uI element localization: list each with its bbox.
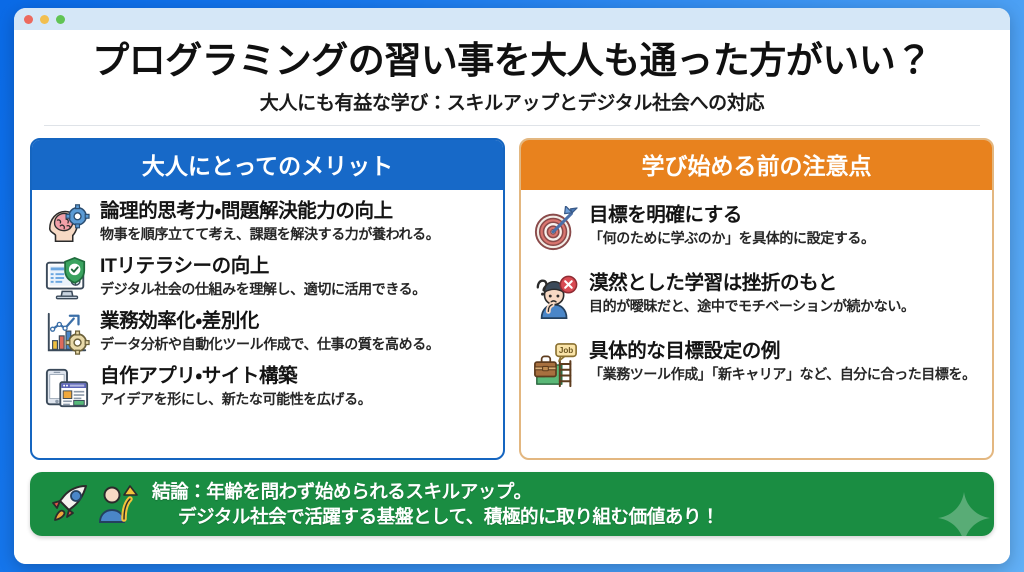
maximize-button[interactable] bbox=[56, 15, 65, 24]
briefcase-ladder-job-icon: Job bbox=[533, 342, 579, 388]
list-item-text: 自作アプリ・サイト構築 アイデアを形にし、新たな可能性を広げる。 bbox=[100, 365, 491, 408]
list-item-text: 業務効率化・差別化 データ分析や自動化ツール作成で、仕事の質を高める。 bbox=[100, 310, 491, 353]
list-item-title: 具体的な目標設定の例 bbox=[589, 340, 980, 363]
app-window: プログラミングの習い事を大人も通った方がいい？ 大人にも有益な学び：スキルアップ… bbox=[14, 8, 1010, 564]
page-subtitle: 大人にも有益な学び：スキルアップとデジタル社会への対応 bbox=[30, 88, 994, 115]
list-item-text: 論理的思考力・問題解決能力の向上 物事を順序立てて考え、課題を解決する力が養われ… bbox=[100, 200, 491, 243]
target-dart-icon bbox=[533, 206, 579, 252]
list-item-desc: 物事を順序立てて考え、課題を解決する力が養われる。 bbox=[100, 225, 491, 243]
conclusion-text: 結論：年齢を問わず始められるスキルアップ。 デジタル社会で活躍する基盤として、積… bbox=[152, 479, 994, 530]
panel-cautions-body: 目標を明確にする 「何のために学ぶのか」を具体的に設定する。 bbox=[521, 190, 992, 458]
list-item-title: 目標を明確にする bbox=[589, 204, 980, 227]
list-item-desc: 目的が曖昧だと、途中でモチベーションが続かない。 bbox=[589, 297, 980, 315]
svg-text:Job: Job bbox=[559, 346, 573, 355]
list-item-text: 漠然とした学習は挫折のもと 目的が曖昧だと、途中でモチベーションが続かない。 bbox=[589, 272, 980, 315]
slide-content: プログラミングの習い事を大人も通った方がいい？ 大人にも有益な学び：スキルアップ… bbox=[14, 30, 1010, 564]
panel-merits: 大人にとってのメリット bbox=[30, 138, 505, 460]
page-title: プログラミングの習い事を大人も通った方がいい？ bbox=[30, 40, 994, 81]
list-item-title: ITリテラシーの向上 bbox=[100, 255, 491, 278]
list-item-desc: 「業務ツール作成」「新キャリア」など、自分に合った目標を。 bbox=[589, 365, 980, 383]
header-divider bbox=[44, 125, 980, 126]
window-titlebar bbox=[14, 8, 1010, 30]
list-item-text: 目標を明確にする 「何のために学ぶのか」を具体的に設定する。 bbox=[589, 204, 980, 247]
confused-person-icon bbox=[533, 274, 579, 320]
close-button[interactable] bbox=[24, 15, 33, 24]
list-item: 漠然とした学習は挫折のもと 目的が曖昧だと、途中でモチベーションが続かない。 bbox=[533, 272, 980, 320]
panel-cautions: 学び始める前の注意点 bbox=[519, 138, 994, 460]
list-item-desc: アイデアを形にし、新たな可能性を広げる。 bbox=[100, 390, 491, 408]
conclusion-line-1: 結論：年齢を問わず始められるスキルアップ。 bbox=[152, 479, 994, 505]
list-item-text: ITリテラシーの向上 デジタル社会の仕組みを理解し、適切に活用できる。 bbox=[100, 255, 491, 298]
rocket-icon bbox=[46, 482, 94, 526]
footer-icon-group bbox=[46, 482, 138, 526]
conclusion-banner: 結論：年齢を問わず始められるスキルアップ。 デジタル社会で活躍する基盤として、積… bbox=[30, 472, 994, 536]
list-item: ITリテラシーの向上 デジタル社会の仕組みを理解し、適切に活用できる。 bbox=[44, 255, 491, 301]
panels-row: 大人にとってのメリット bbox=[30, 138, 994, 460]
list-item-text: 具体的な目標設定の例 「業務ツール作成」「新キャリア」など、自分に合った目標を。 bbox=[589, 340, 980, 383]
list-item: 業務効率化・差別化 データ分析や自動化ツール作成で、仕事の質を高める。 bbox=[44, 310, 491, 356]
list-item: 自作アプリ・サイト構築 アイデアを形にし、新たな可能性を広げる。 bbox=[44, 365, 491, 411]
phone-website-icon bbox=[44, 365, 90, 411]
slide-header: プログラミングの習い事を大人も通った方がいい？ 大人にも有益な学び：スキルアップ… bbox=[30, 30, 994, 115]
brain-gear-icon bbox=[44, 200, 90, 246]
list-item: Job 具体的な目標設定の例 「業務ツール作成」「新キャリア」など、自分に合った… bbox=[533, 340, 980, 388]
person-up-arrow-icon bbox=[98, 482, 138, 526]
list-item: 論理的思考力・問題解決能力の向上 物事を順序立てて考え、課題を解決する力が養われ… bbox=[44, 200, 491, 246]
panel-merits-header: 大人にとってのメリット bbox=[32, 140, 503, 190]
chart-gear-icon bbox=[44, 310, 90, 356]
list-item-desc: 「何のために学ぶのか」を具体的に設定する。 bbox=[589, 229, 980, 247]
minimize-button[interactable] bbox=[40, 15, 49, 24]
monitor-shield-icon bbox=[44, 255, 90, 301]
list-item-desc: デジタル社会の仕組みを理解し、適切に活用できる。 bbox=[100, 280, 491, 298]
panel-merits-body: 論理的思考力・問題解決能力の向上 物事を順序立てて考え、課題を解決する力が養われ… bbox=[32, 190, 503, 458]
panel-cautions-header: 学び始める前の注意点 bbox=[521, 140, 992, 190]
list-item: 目標を明確にする 「何のために学ぶのか」を具体的に設定する。 bbox=[533, 204, 980, 252]
list-item-title: 論理的思考力・問題解決能力の向上 bbox=[100, 200, 491, 223]
list-item-title: 自作アプリ・サイト構築 bbox=[100, 365, 491, 388]
list-item-title: 業務効率化・差別化 bbox=[100, 310, 491, 333]
list-item-title: 漠然とした学習は挫折のもと bbox=[589, 272, 980, 295]
conclusion-line-2: デジタル社会で活躍する基盤として、積極的に取り組む価値あり！ bbox=[152, 504, 994, 530]
list-item-desc: データ分析や自動化ツール作成で、仕事の質を高める。 bbox=[100, 335, 491, 353]
